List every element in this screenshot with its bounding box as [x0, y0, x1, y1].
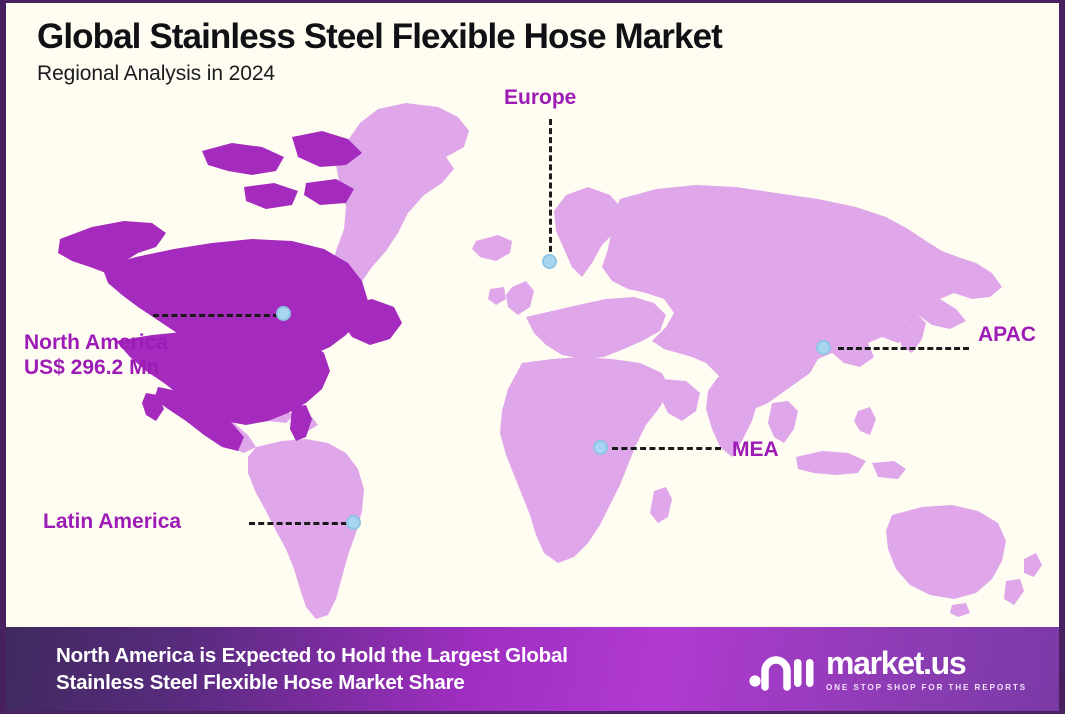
logo-tagline: ONE STOP SHOP FOR THE REPORTS	[826, 683, 1027, 692]
map-marker-europe[interactable]	[542, 254, 557, 269]
region-label-mea: MEA	[732, 438, 779, 463]
region-label-latin-america: Latin America	[43, 510, 181, 535]
map-marker-latin-america[interactable]	[346, 515, 361, 530]
region-name-north-america: North America	[24, 331, 168, 354]
connector-mea	[612, 447, 721, 450]
infographic-root: Global Stainless Steel Flexible Hose Mar…	[0, 0, 1065, 714]
header: Global Stainless Steel Flexible Hose Mar…	[37, 17, 722, 86]
market-us-logo-icon	[749, 647, 815, 691]
region-label-apac: APAC	[978, 323, 1036, 348]
market-us-logo[interactable]: market.us ONE STOP SHOP FOR THE REPORTS	[749, 647, 1031, 692]
region-label-europe: Europe	[504, 86, 576, 111]
map-marker-north-america[interactable]	[276, 306, 291, 321]
region-name-europe: Europe	[504, 86, 576, 109]
page-title: Global Stainless Steel Flexible Hose Mar…	[37, 17, 722, 56]
connector-europe	[549, 119, 552, 261]
footer-headline-line2: Stainless Steel Flexible Hose Market Sha…	[56, 669, 568, 696]
logo-text: market.us ONE STOP SHOP FOR THE REPORTS	[826, 647, 1027, 692]
region-value-north-america: US$ 296.2 Mn	[24, 356, 168, 381]
footer-headline-line1: North America is Expected to Hold the La…	[56, 642, 568, 669]
footer-banner: North America is Expected to Hold the La…	[6, 627, 1059, 711]
map-marker-apac[interactable]	[816, 340, 831, 355]
connector-latin-america	[249, 522, 347, 525]
connector-north-america	[153, 314, 279, 317]
footer-headline: North America is Expected to Hold the La…	[56, 642, 568, 696]
map-marker-mea[interactable]	[593, 440, 608, 455]
page-subtitle: Regional Analysis in 2024	[37, 62, 722, 86]
region-name-mea: MEA	[732, 438, 779, 461]
region-label-north-america: North America US$ 296.2 Mn	[24, 331, 168, 381]
region-name-latin-america: Latin America	[43, 510, 181, 533]
region-name-apac: APAC	[978, 323, 1036, 346]
connector-apac	[838, 347, 969, 350]
logo-wordmark: market.us	[826, 647, 966, 679]
